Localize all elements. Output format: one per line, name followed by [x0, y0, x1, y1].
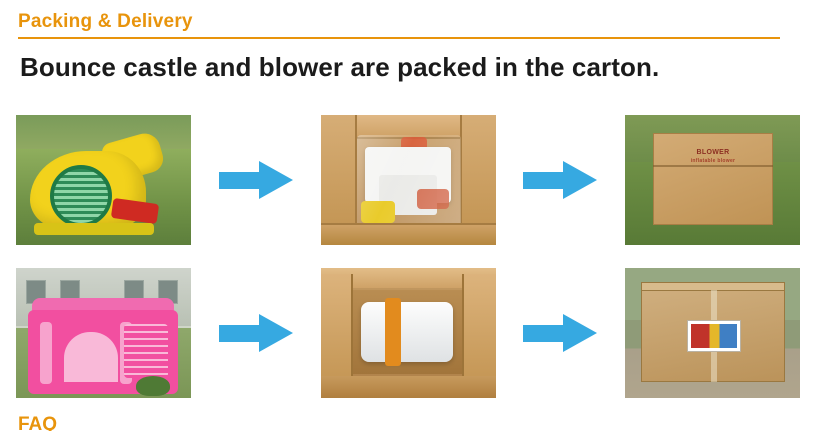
section-divider: [18, 37, 780, 39]
arrow-cell-2: [496, 115, 626, 245]
page-title: Bounce castle and blower are packed in t…: [20, 52, 659, 83]
page-root: Packing & Delivery Bounce castle and blo…: [0, 0, 816, 431]
bush: [136, 376, 170, 396]
photo-castle-sealed-carton: [625, 268, 800, 398]
carton-flap-bottom: [321, 223, 496, 245]
castle-column: [40, 322, 52, 384]
castle-mesh-wall: [124, 324, 168, 378]
rolled-castle: [361, 302, 453, 362]
carton-product-photo-label: [687, 320, 741, 352]
photo-blower-sealed-carton: BLOWER inflatable blower: [625, 115, 800, 245]
photo-blower-product: [16, 115, 191, 245]
section-header: Packing & Delivery: [18, 10, 780, 39]
photo-blower-in-open-carton: [321, 115, 496, 245]
section-title: Packing & Delivery: [18, 10, 780, 37]
photo-castle-product: [16, 268, 191, 398]
castle-packing-row: [16, 268, 800, 398]
carton-brand-text: BLOWER: [697, 149, 730, 156]
blower-base: [34, 223, 154, 235]
blower-packing-row: BLOWER inflatable blower: [16, 115, 800, 245]
arrow-right-icon: [523, 314, 597, 352]
plastic-wrap: [357, 135, 461, 227]
orange-strap: [385, 298, 401, 366]
photo-castle-in-open-carton: [321, 268, 496, 398]
arrow-right-icon: [219, 161, 293, 199]
carton-print-label: BLOWER inflatable blower: [673, 149, 753, 165]
carton-flap-bottom: [321, 376, 496, 398]
sealed-carton: [653, 133, 773, 225]
arrow-right-icon: [523, 161, 597, 199]
next-section-title: FAQ: [18, 414, 57, 431]
castle-entrance: [64, 332, 118, 382]
carton-sub-text: inflatable blower: [673, 157, 753, 165]
arrow-cell-4: [496, 268, 626, 398]
arrow-right-icon: [219, 314, 293, 352]
arrow-cell-3: [191, 268, 321, 398]
arrow-cell-1: [191, 115, 321, 245]
blower-grill: [50, 165, 112, 227]
carton-seam: [653, 165, 773, 167]
label-image: [691, 324, 737, 348]
